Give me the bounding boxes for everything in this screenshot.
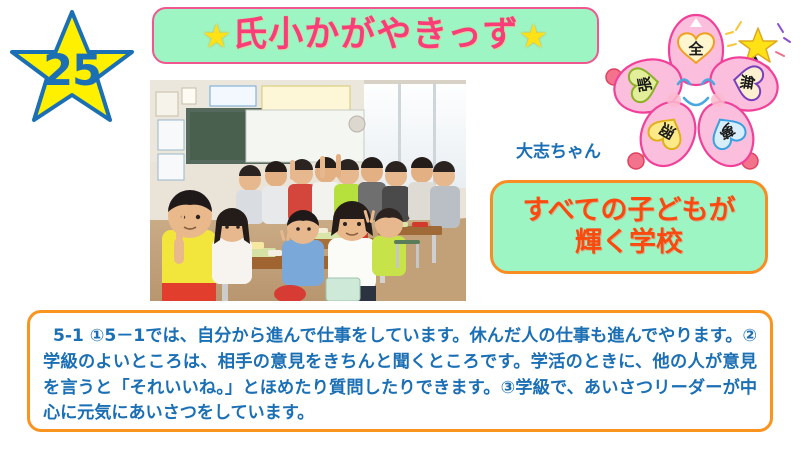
classroom-lunch-photo	[150, 80, 466, 301]
photo-illustration	[150, 80, 466, 301]
cheek-left	[667, 93, 681, 107]
petal-kanji-upper-right: 無	[737, 73, 757, 91]
page-title: 氏小かがやきっず	[232, 15, 519, 55]
sakura-mascot: 全 張 無 照 夢	[600, 6, 796, 178]
flower-mascot-icon: 全 張 無 照 夢	[600, 6, 796, 178]
title-text-wrap: ★氏小かがやきっず★	[202, 18, 550, 53]
class-report-panel: 5-1 ①5－1では、自分から進んで仕事をしています。休んだ人の仕事も進んでやり…	[27, 310, 773, 432]
badge-number: 25	[8, 6, 136, 126]
slogan-box: すべての子どもが 輝く学校	[490, 180, 768, 274]
class-report-text: 5-1 ①5－1では、自分から進んで仕事をしています。休んだ人の仕事も進んでやり…	[43, 324, 757, 427]
star-icon-left: ★	[202, 17, 233, 56]
title-banner: ★氏小かがやきっず★	[152, 7, 599, 64]
mascot-name-label: 大志ちゃん	[516, 137, 601, 162]
slogan-line-2: 輝く学校	[575, 228, 683, 258]
star-icon-right: ★	[519, 17, 550, 56]
slogan-line-1: すべての子どもが	[522, 196, 735, 226]
poster-canvas: 25 ★氏小かがやきっず★	[0, 0, 800, 450]
cheek-right	[711, 93, 725, 107]
mouth	[684, 98, 708, 105]
number-star-badge: 25	[8, 6, 136, 126]
petal-kanji-top: 全	[687, 40, 704, 58]
